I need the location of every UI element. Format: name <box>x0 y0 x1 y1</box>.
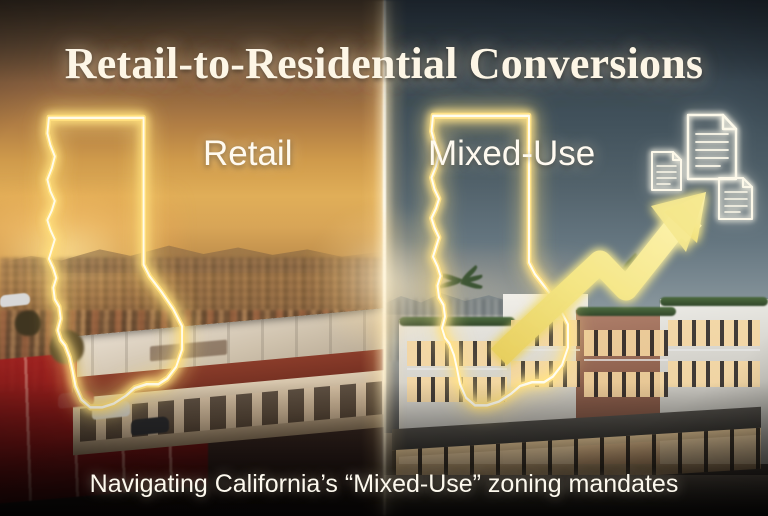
balcony-railing <box>511 349 580 351</box>
page-title: Retail-to-Residential Conversions <box>0 38 768 89</box>
label-retail: Retail <box>203 134 292 174</box>
apartment-windows <box>511 361 580 387</box>
apartment-windows <box>668 361 760 387</box>
label-mixed-use: Mixed-Use <box>428 134 595 174</box>
page-caption: Navigating California’s “Mixed-Use” zoni… <box>0 470 768 499</box>
apartment-windows <box>668 320 760 346</box>
poster-canvas: Retail-to-Residential Conversions Retail… <box>0 0 768 516</box>
balcony-railing <box>407 368 507 370</box>
green-roof-planter <box>576 307 676 316</box>
apartment-windows <box>584 372 668 398</box>
street-tree <box>50 330 84 364</box>
street-tree <box>15 310 41 336</box>
balcony-railing <box>584 359 668 361</box>
balcony-railing <box>668 349 760 351</box>
apartment-windows <box>584 330 668 356</box>
panel-divider-burst <box>309 204 459 354</box>
green-roof-planter <box>660 297 768 306</box>
apartment-windows <box>407 377 507 403</box>
apartment-windows <box>511 320 580 346</box>
